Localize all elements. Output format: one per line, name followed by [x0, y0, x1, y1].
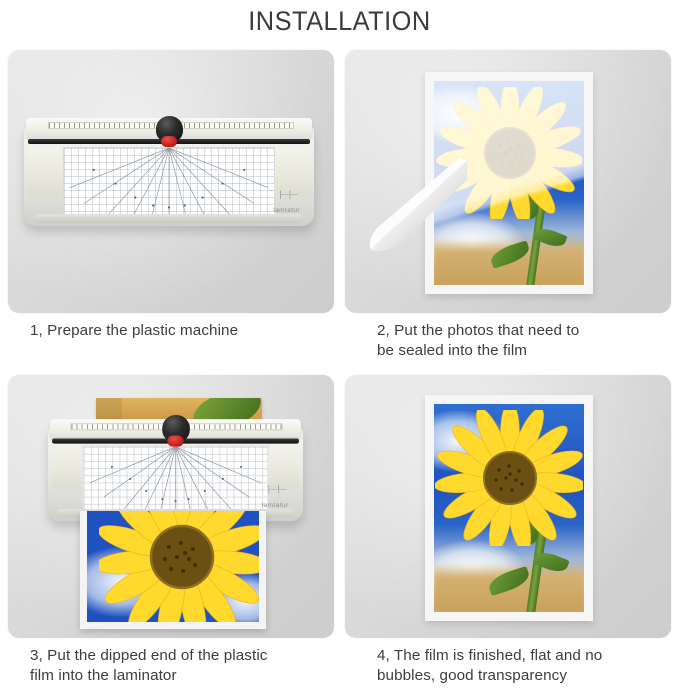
- photo-frame: [425, 395, 593, 621]
- laminator-side-left: [52, 446, 81, 489]
- cutter-blade-head[interactable]: [167, 435, 183, 446]
- step-card-4[interactable]: 4, The film is finished, flat and no bub…: [345, 375, 671, 686]
- sunflower-photo-finished: [434, 404, 584, 612]
- sunflower-photo: [434, 81, 584, 285]
- laminator-grid-plate: [83, 446, 269, 511]
- step-3-caption-line-1: 3, Put the dipped end of the plastic: [30, 646, 334, 666]
- step-2-caption: 2, Put the photos that need to be sealed…: [345, 313, 671, 361]
- laminator-grid-plate: [63, 147, 275, 219]
- step-1-image: ⊢⊢ lamtatur: [8, 50, 334, 313]
- laminator-foot: [34, 214, 304, 223]
- photo-exiting-bottom: [80, 511, 266, 629]
- sunflower-head: [435, 410, 583, 546]
- step-3-caption-line-2: film into the laminator: [30, 666, 334, 686]
- laminator-machine: ⊢⊢ lamtatur: [24, 112, 314, 230]
- brand-label: lamtatur: [273, 207, 300, 214]
- step-4-caption: 4, The film is finished, flat and no bub…: [345, 638, 671, 686]
- sunflower-head: [99, 511, 265, 629]
- laminator-side-left: [28, 148, 62, 196]
- step-card-3[interactable]: ⊢⊢ lamtatur: [8, 375, 334, 686]
- step-2-image: [345, 50, 671, 313]
- page-title: INSTALLATION: [20, 0, 658, 41]
- step-2-caption-line-2: be sealed into the film: [377, 341, 671, 361]
- step-3-image: ⊢⊢ lamtatur: [8, 375, 334, 638]
- photo-frame: [425, 72, 593, 294]
- step-2-caption-line-1: 2, Put the photos that need to: [377, 321, 671, 341]
- cutter-blade-head[interactable]: [161, 136, 177, 147]
- alignment-mark-icon: ⊢⊢: [279, 188, 298, 202]
- step-4-image: [345, 375, 671, 638]
- brand-label: lamtatur: [261, 502, 288, 509]
- angle-guide-lines: [64, 148, 274, 219]
- step-4-caption-line-2: bubbles, good transparency: [377, 666, 671, 686]
- laminator-machine: ⊢⊢ lamtatur: [48, 413, 303, 519]
- step-card-1[interactable]: ⊢⊢ lamtatur 1, Prepare the plastic machi…: [8, 50, 334, 341]
- step-4-caption-line-1: 4, The film is finished, flat and no: [377, 646, 671, 666]
- step-1-caption: 1, Prepare the plastic machine: [8, 313, 334, 341]
- alignment-mark-icon: ⊢⊢: [267, 482, 286, 496]
- angle-guide-lines: [84, 447, 268, 511]
- step-card-2[interactable]: 2, Put the photos that need to be sealed…: [345, 50, 671, 361]
- step-3-caption: 3, Put the dipped end of the plastic fil…: [8, 638, 334, 686]
- sunflower-head: [436, 87, 582, 219]
